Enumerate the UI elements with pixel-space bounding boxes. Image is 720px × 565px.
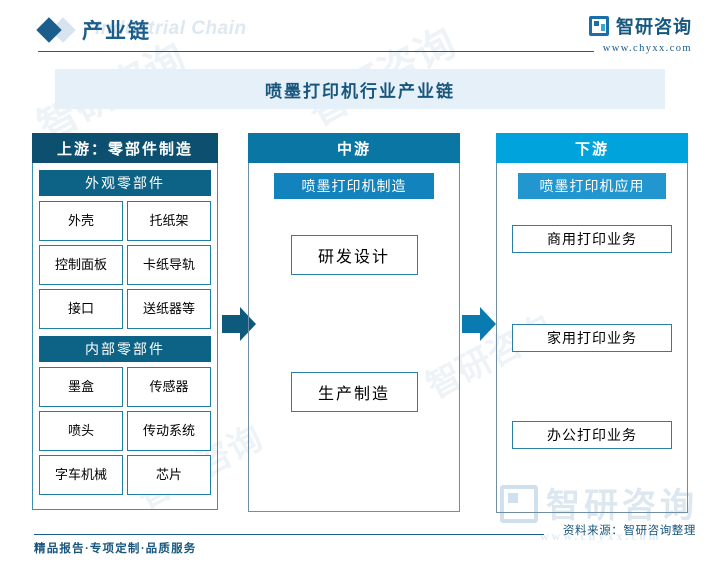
- part-cell[interactable]: 卡纸导轨: [127, 245, 211, 285]
- downstream-badge[interactable]: 喷墨打印机应用: [518, 173, 666, 199]
- column-upstream-header: 上游：零部件制造: [32, 133, 218, 163]
- group-header-exterior-parts: 外观零部件: [39, 170, 211, 196]
- part-cell[interactable]: 外壳: [39, 201, 123, 241]
- brand-left: 产业链: [38, 14, 151, 46]
- part-cell[interactable]: 喷头: [39, 411, 123, 451]
- group-grid-internal-parts: 墨盒 传感器 喷头 传动系统 字车机械 芯片: [39, 367, 211, 495]
- footer-divider: [34, 534, 544, 535]
- group-header-internal-parts: 内部零部件: [39, 336, 211, 362]
- column-midstream-header: 中游: [248, 133, 460, 163]
- page-title-text: 喷墨打印机行业产业链: [265, 77, 455, 102]
- midstream-item[interactable]: 生产制造: [291, 372, 418, 412]
- part-cell[interactable]: 字车机械: [39, 455, 123, 495]
- company-logo: 智研咨询 www.chyxx.com: [589, 13, 692, 54]
- brand-title-cn: 产业链: [82, 15, 151, 45]
- page-header: Industrial Chain 产业链 智研咨询 www.chyxx.com: [0, 0, 720, 56]
- column-upstream: 上游：零部件制造 外观零部件 外壳 托纸架 控制面板 卡纸导轨 接口 送纸器等 …: [32, 133, 218, 510]
- downstream-item[interactable]: 商用打印业务: [512, 225, 672, 253]
- company-name: 智研咨询: [616, 13, 692, 39]
- arrow-right-icon-midstream-to-downstream: [462, 305, 496, 343]
- chyxx-logo-icon: [589, 16, 609, 36]
- page-title: 喷墨打印机行业产业链: [55, 69, 665, 109]
- part-cell[interactable]: 芯片: [127, 455, 211, 495]
- column-downstream-header: 下游: [496, 133, 688, 163]
- midstream-badge[interactable]: 喷墨打印机制造: [274, 173, 434, 199]
- group-spacer: [39, 329, 211, 336]
- part-cell[interactable]: 墨盒: [39, 367, 123, 407]
- footer-source: 资料来源：智研咨询整理: [563, 522, 696, 538]
- column-upstream-body: 外观零部件 外壳 托纸架 控制面板 卡纸导轨 接口 送纸器等 内部零部件 墨盒 …: [32, 163, 218, 510]
- downstream-item[interactable]: 家用打印业务: [512, 324, 672, 352]
- part-cell[interactable]: 传感器: [127, 367, 211, 407]
- header-divider: [38, 51, 594, 52]
- part-cell[interactable]: 接口: [39, 289, 123, 329]
- company-url: www.chyxx.com: [589, 43, 692, 54]
- part-cell[interactable]: 托纸架: [127, 201, 211, 241]
- midstream-item[interactable]: 研发设计: [291, 235, 418, 275]
- diamond-icon: [38, 17, 82, 43]
- column-midstream-body: 喷墨打印机制造 研发设计 生产制造: [248, 163, 460, 512]
- column-downstream: 下游 喷墨打印机应用 商用打印业务 家用打印业务 办公打印业务: [496, 133, 688, 513]
- downstream-item[interactable]: 办公打印业务: [512, 421, 672, 449]
- column-downstream-body: 喷墨打印机应用 商用打印业务 家用打印业务 办公打印业务: [496, 163, 688, 513]
- part-cell[interactable]: 传动系统: [127, 411, 211, 451]
- chart-page: 智研咨询 智研咨询 智研咨询 智研咨询 智研咨询 www.chyxx.com I…: [0, 0, 720, 565]
- part-cell[interactable]: 送纸器等: [127, 289, 211, 329]
- footer-slogan: 精品报告·专项定制·品质服务: [34, 540, 196, 556]
- column-midstream: 中游 喷墨打印机制造 研发设计 生产制造: [248, 133, 460, 512]
- group-grid-exterior-parts: 外壳 托纸架 控制面板 卡纸导轨 接口 送纸器等: [39, 201, 211, 329]
- part-cell[interactable]: 控制面板: [39, 245, 123, 285]
